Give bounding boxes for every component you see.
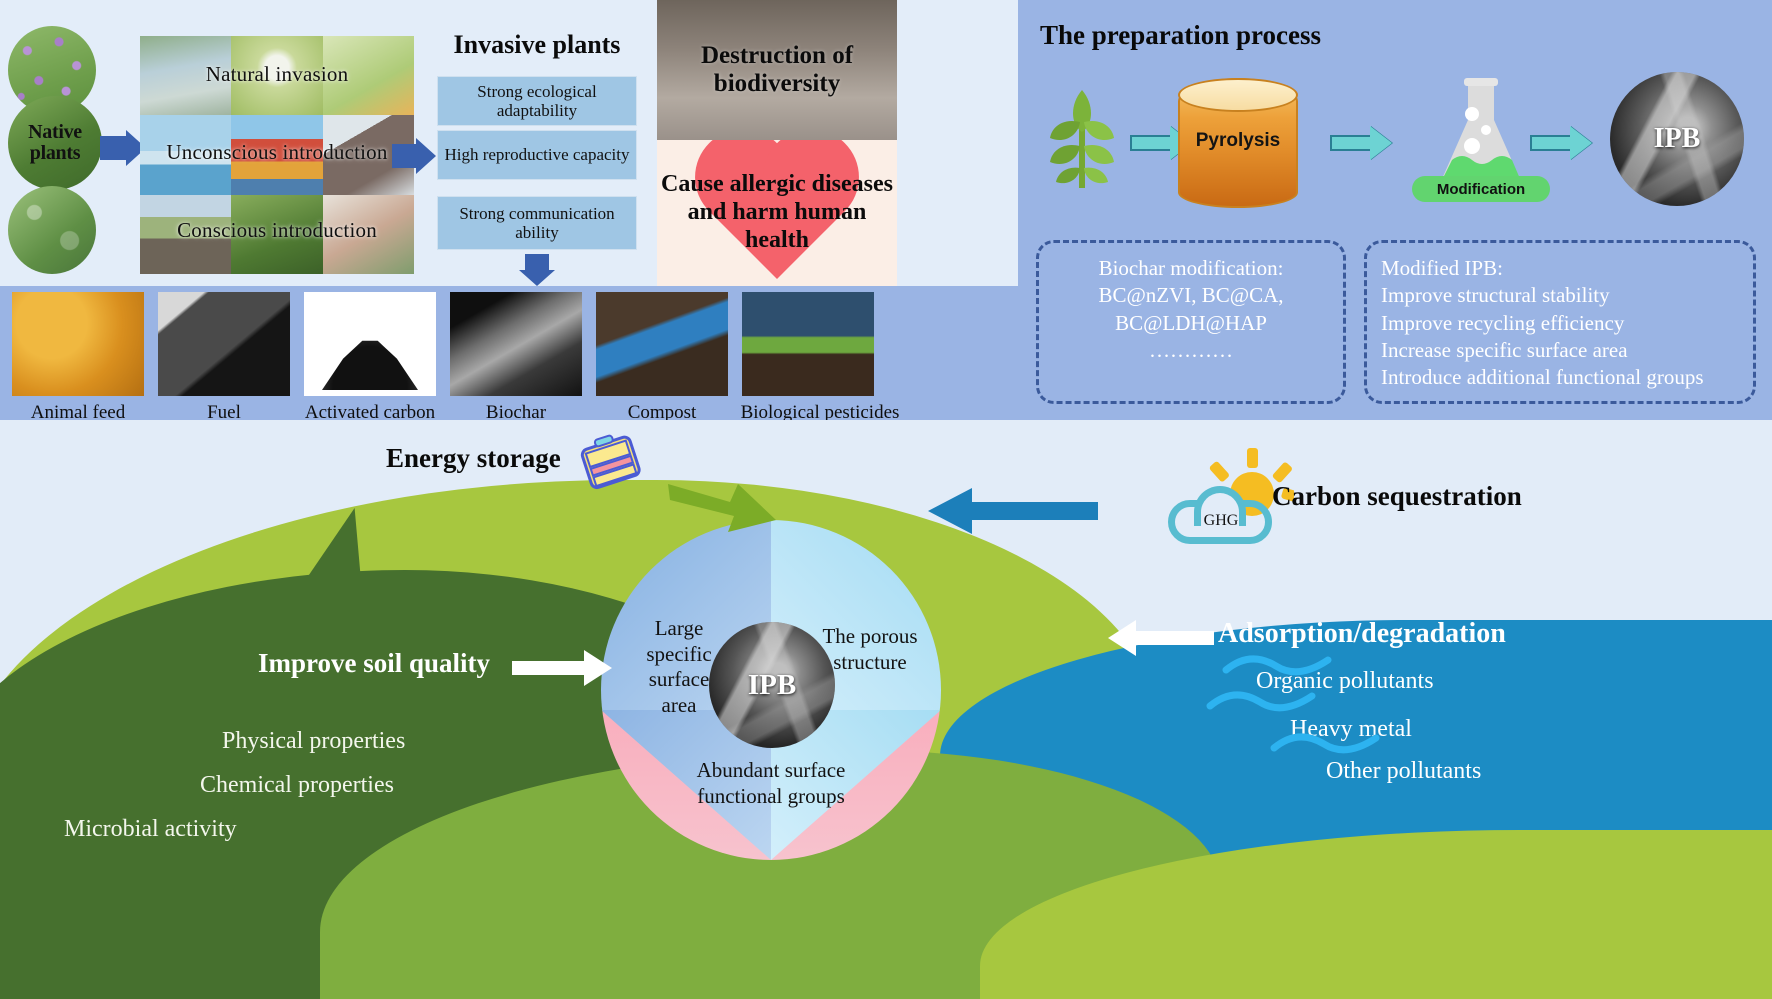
arrow-energy-to-ipb (666, 478, 778, 542)
pie-label-functional-groups: Abundant surface functional groups (663, 758, 879, 809)
plant-icon (1038, 82, 1128, 192)
invasive-plants-title: Invasive plants (437, 30, 637, 60)
native-plants-label-circle: Native plants (8, 96, 102, 190)
ipb-label-top: IPB (1654, 123, 1701, 155)
invasive-feature-1: Strong ecological adaptability (437, 76, 637, 126)
modified-ipb-line-3: Increase specific surface area (1381, 337, 1739, 364)
ipb-properties-pie-chart: Large specific surface area The porous s… (601, 520, 941, 860)
ghg-label: GHG (1182, 512, 1260, 530)
impact-health-text: Cause allergic diseases and harm human h… (657, 171, 897, 254)
ipb-label-center: IPB (748, 669, 796, 702)
pathway-label-unconscious-introduction: Unconscious introduction (140, 140, 414, 165)
modification-label: Modification (1412, 176, 1550, 202)
soil-property-chemical: Chemical properties (200, 772, 394, 799)
invasive-feature-2: High reproductive capacity (437, 130, 637, 180)
modified-ipb-line-2: Improve recycling efficiency (1381, 310, 1739, 337)
impact-biodiversity-text: Destruction of biodiversity (657, 42, 897, 98)
product-image-activated-carbon (304, 292, 436, 396)
product-image-animal-feed (12, 292, 144, 396)
adsorption-degradation-heading: Adsorption/degradation (1218, 618, 1506, 650)
pyrolysis-label: Pyrolysis (1178, 130, 1298, 152)
modified-ipb-heading: Modified IPB: (1381, 255, 1739, 282)
product-image-fuel (158, 292, 290, 396)
battery-icon (580, 434, 644, 492)
soil-property-microbial: Microbial activity (64, 816, 237, 843)
native-plant-photo-2 (8, 186, 96, 274)
arrow-pyrolysis-to-modification (1330, 126, 1392, 160)
biochar-modification-heading: Biochar modification: (1053, 255, 1329, 282)
invasive-feature-3: Strong communication ability (437, 196, 637, 250)
impact-health-panel: Cause allergic diseases and harm human h… (657, 140, 897, 286)
product-image-biological-pesticides (742, 292, 874, 396)
soil-property-physical: Physical properties (222, 728, 405, 755)
improve-soil-quality-heading: Improve soil quality (258, 648, 490, 679)
arrow-adsorption-to-ipb (1108, 618, 1214, 658)
carbon-sequestration-heading: Carbon sequestration (1272, 481, 1522, 512)
arrow-carbon-to-ipb (928, 486, 1098, 536)
modified-ipb-line-4: Introduce additional functional groups (1381, 364, 1739, 391)
ipb-sem-image-top: IPB (1610, 72, 1744, 206)
biochar-modification-line-2: BC@LDH@HAP (1053, 310, 1329, 337)
ipb-sem-image-center: IPB (709, 622, 835, 748)
water-wave-icon-3 (1270, 726, 1380, 764)
biochar-modification-ellipsis: ………… (1053, 337, 1329, 364)
product-image-biochar (450, 292, 582, 396)
native-plants-label: Native plants (8, 122, 102, 164)
water-wave-icon-1 (1222, 648, 1332, 686)
biochar-modification-box: Biochar modification: BC@nZVI, BC@CA, BC… (1036, 240, 1346, 404)
impact-biodiversity-panel: Destruction of biodiversity (657, 0, 897, 140)
preparation-title: The preparation process (1040, 20, 1460, 51)
top-panel: Native plants Natural invasion Unconscio… (0, 0, 1772, 420)
biochar-modification-line-1: BC@nZVI, BC@CA, (1053, 282, 1329, 309)
arrow-modification-to-ipb (1530, 126, 1592, 160)
water-wave-icon-2 (1206, 684, 1316, 722)
product-image-compost (596, 292, 728, 396)
modified-ipb-line-1: Improve structural stability (1381, 282, 1739, 309)
pathway-label-conscious-introduction: Conscious introduction (140, 218, 414, 243)
pathway-label-natural-invasion: Natural invasion (140, 62, 414, 87)
energy-storage-heading: Energy storage (386, 443, 561, 474)
graphical-abstract: Native plants Natural invasion Unconscio… (0, 0, 1772, 999)
arrow-soil-to-ipb (512, 648, 612, 688)
modified-ipb-box: Modified IPB: Improve structural stabili… (1364, 240, 1756, 404)
